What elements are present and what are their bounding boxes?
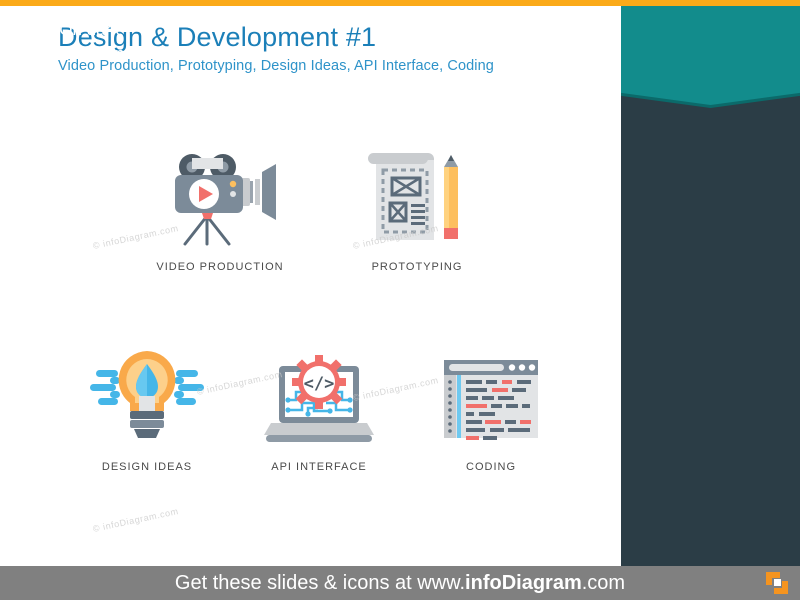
icon-cell-video-production[interactable]: VIDEO PRODUCTION	[155, 148, 285, 273]
footer-prefix: Get these slides & icons at www.	[175, 572, 465, 594]
footer-brand: infoDiagram	[465, 572, 582, 594]
infodiagram-logo[interactable]	[760, 566, 794, 600]
footer-suffix: .com	[582, 572, 625, 594]
laptop-gear-code-icon: </>	[254, 348, 384, 453]
svg-text:</>: </>	[304, 374, 335, 394]
banner-body	[621, 0, 800, 76]
banner-line-2: background	[0, 42, 179, 66]
banner-text: On dark background	[0, 18, 179, 66]
icon-cell-design-ideas[interactable]: DESIGN IDEAS	[82, 348, 212, 473]
banner-chevron-fill	[621, 73, 800, 105]
icon-label: API INTERFACE	[254, 461, 384, 473]
on-dark-background-banner	[621, 0, 800, 108]
footer-bar: Get these slides & icons at www.infoDiag…	[0, 566, 800, 600]
video-camera-icon	[155, 148, 285, 253]
banner-line-1: On dark	[0, 18, 179, 42]
watermark: © infoDiagram.com	[92, 506, 180, 534]
banner-chevron	[621, 76, 800, 108]
icon-cell-api-interface[interactable]: </> API INTERFACE	[254, 348, 384, 473]
icon-label: VIDEO PRODUCTION	[155, 261, 285, 273]
code-editor-window-icon	[426, 348, 556, 453]
icon-label: PROTOTYPING	[352, 261, 482, 273]
icon-cell-coding[interactable]: CODING	[426, 348, 556, 473]
icon-label: DESIGN IDEAS	[82, 461, 212, 473]
footer-text: Get these slides & icons at www.infoDiag…	[0, 566, 800, 600]
icon-cell-prototyping[interactable]: PROTOTYPING	[352, 148, 482, 273]
top-accent-bar	[0, 0, 800, 6]
slide-canvas: On dark background Design & Development …	[0, 0, 800, 600]
icon-label: CODING	[426, 461, 556, 473]
lightbulb-brush-icon	[82, 348, 212, 453]
wireframe-pencil-icon	[352, 148, 482, 253]
